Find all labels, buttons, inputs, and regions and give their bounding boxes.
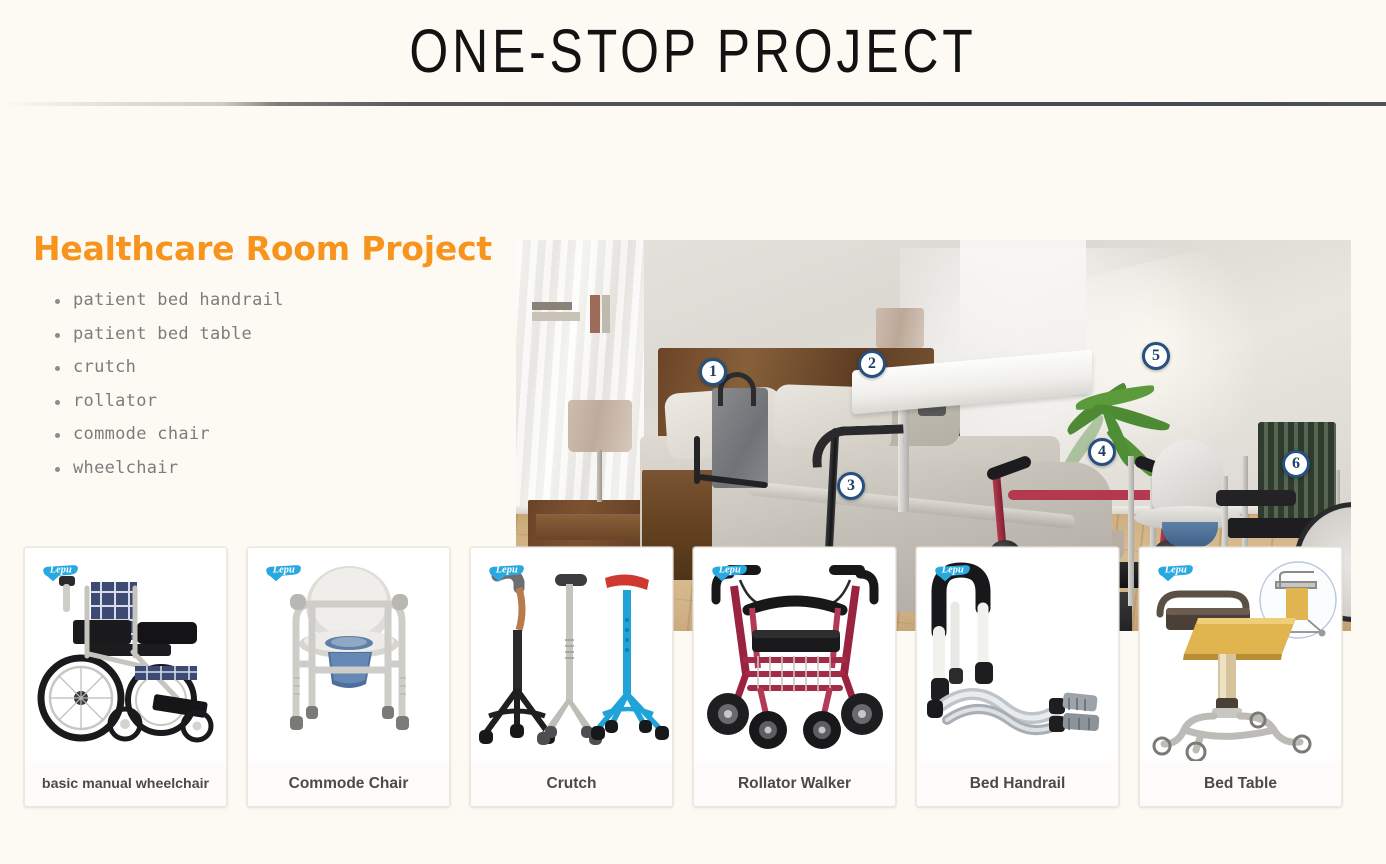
- hero-badge-2: 2: [858, 350, 886, 378]
- product-card-bed-handrail[interactable]: Lepu: [916, 547, 1119, 807]
- section-heading: Healthcare Room Project: [33, 229, 493, 268]
- product-label: Bed Table: [1140, 761, 1341, 806]
- svg-text:Lepu: Lepu: [495, 564, 518, 575]
- window-curtain: [516, 240, 644, 529]
- page-title: ONE-STOP PROJECT: [28, 0, 1359, 113]
- list-item: commode chair: [73, 418, 493, 452]
- lamp-stem-left: [597, 450, 602, 502]
- lepu-logo-icon: Lepu: [1156, 558, 1196, 582]
- lepu-logo-icon: Lepu: [710, 558, 750, 582]
- svg-text:Lepu: Lepu: [272, 564, 295, 575]
- hero-badge-3: 3: [837, 472, 865, 500]
- svg-text:Lepu: Lepu: [941, 564, 964, 575]
- book-spine: [602, 295, 610, 333]
- product-image-wheelchair: Lepu: [25, 548, 226, 761]
- product-card-wheelchair[interactable]: Lepu: [24, 547, 227, 807]
- list-item: patient bed table: [73, 318, 493, 352]
- book-stack: [532, 302, 572, 310]
- lepu-logo-icon: Lepu: [487, 558, 527, 582]
- product-image-bed-handrail: Lepu: [917, 548, 1118, 761]
- rollator-crossbar: [1008, 490, 1158, 500]
- product-card-rollator-walker[interactable]: Lepu: [693, 547, 896, 807]
- product-label: Crutch: [471, 761, 672, 806]
- book-stack: [532, 312, 580, 321]
- lepu-logo-icon: Lepu: [264, 558, 304, 582]
- svg-text:Lepu: Lepu: [49, 564, 72, 575]
- product-label: Rollator Walker: [694, 761, 895, 806]
- product-label: Commode Chair: [248, 761, 449, 806]
- product-card-commode-chair[interactable]: Lepu: [247, 547, 450, 807]
- product-card-bed-table[interactable]: Lepu: [1139, 547, 1342, 807]
- product-image-crutch: Lepu: [471, 548, 672, 761]
- book-spine: [590, 295, 600, 333]
- list-item: patient bed handrail: [73, 284, 493, 318]
- product-image-commode-chair: Lepu: [248, 548, 449, 761]
- product-label: Bed Handrail: [917, 761, 1118, 806]
- table-lamp-right: [876, 308, 924, 348]
- product-image-bed-table: Lepu: [1140, 548, 1341, 761]
- table-lamp-left: [568, 400, 632, 452]
- nightstand-drawer: [536, 514, 642, 540]
- list-item: crutch: [73, 351, 493, 385]
- feature-list: patient bed handrail patient bed table c…: [73, 284, 493, 485]
- product-card-crutch[interactable]: Lepu: [470, 547, 673, 807]
- list-item: rollator: [73, 385, 493, 419]
- lepu-logo-icon: Lepu: [933, 558, 973, 582]
- list-item: wheelchair: [73, 452, 493, 486]
- product-label: basic manual wheelchair: [25, 761, 226, 806]
- left-panel: Healthcare Room Project patient bed hand…: [33, 229, 493, 485]
- product-card-row: Lepu: [24, 547, 1362, 807]
- page-header: ONE-STOP PROJECT: [0, 0, 1386, 104]
- hero-badge-4: 4: [1088, 438, 1116, 466]
- hero-badge-6: 6: [1282, 450, 1310, 478]
- hero-badge-5: 5: [1142, 342, 1170, 370]
- product-image-rollator-walker: Lepu: [694, 548, 895, 761]
- lepu-logo-icon: Lepu: [41, 558, 81, 582]
- main-content: Healthcare Room Project patient bed hand…: [0, 104, 1386, 534]
- wheelchair-armrest: [1216, 490, 1296, 506]
- hero-badge-1: 1: [699, 358, 727, 386]
- commode-backrest: [1152, 440, 1224, 510]
- svg-text:Lepu: Lepu: [718, 564, 741, 575]
- svg-text:Lepu: Lepu: [1164, 564, 1187, 575]
